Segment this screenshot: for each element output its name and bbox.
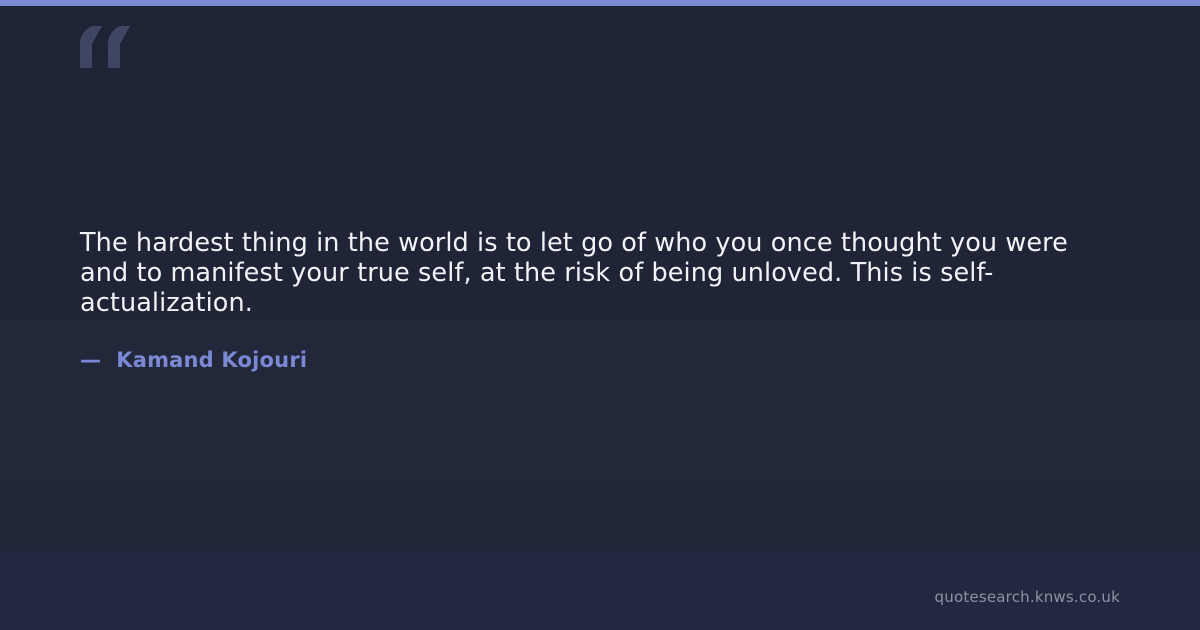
quote-card: The hardest thing in the world is to let… <box>0 0 1200 630</box>
quotation-mark-icon <box>78 24 132 68</box>
quote-content: The hardest thing in the world is to let… <box>80 228 1120 373</box>
background-band-lower <box>0 480 1200 550</box>
source-url-watermark: quotesearch.knws.co.uk <box>935 588 1120 607</box>
top-accent-bar <box>0 0 1200 6</box>
quote-attribution: — Kamand Kojouri <box>80 318 1120 373</box>
quote-text: The hardest thing in the world is to let… <box>80 228 1120 318</box>
